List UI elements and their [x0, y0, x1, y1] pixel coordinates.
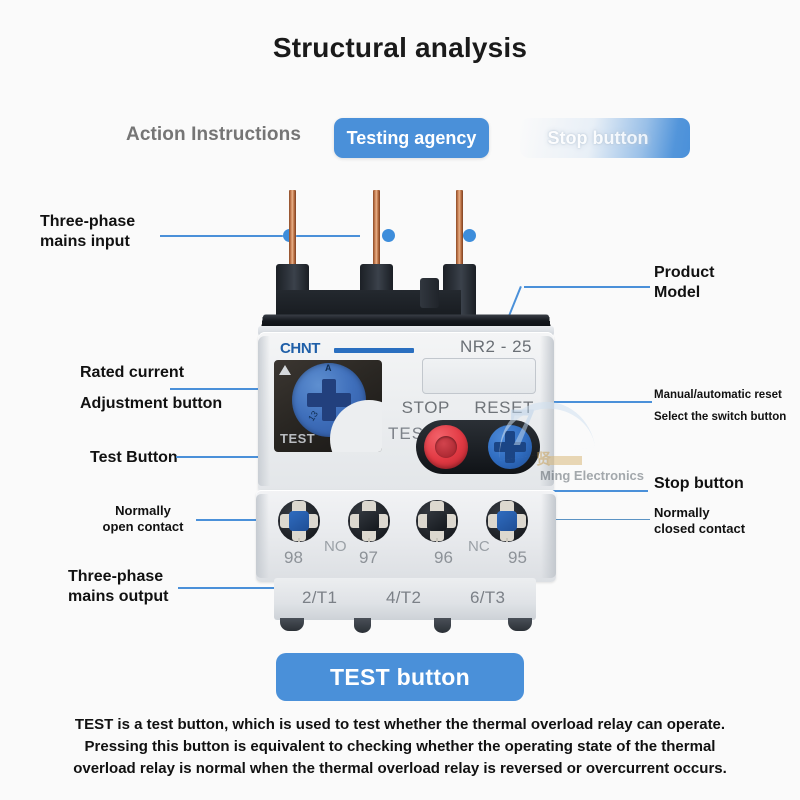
chip-stop-button[interactable]: Stop button: [520, 118, 690, 158]
copper-pin-l3: [456, 190, 463, 268]
rating-window: [422, 358, 536, 394]
dial-pointer-icon: [279, 365, 291, 375]
copper-pin-l1: [289, 190, 296, 268]
diagram-canvas: Structural analysis Action Instructions …: [0, 0, 800, 800]
chip-stop-button-label: Stop button: [548, 128, 649, 149]
label-normally-open-contact: Normally open contact: [88, 503, 198, 535]
base-terminal-2t1: 2/T1: [302, 588, 337, 608]
terminal-tag-no: NO: [324, 538, 347, 555]
dial-mark-high: 19: [346, 407, 360, 421]
terminal-screw-95[interactable]: [486, 500, 528, 542]
base-terminal-6t3: 6/T3: [470, 588, 505, 608]
header-chip-row: Action Instructions Testing agency Stop …: [0, 118, 800, 160]
watermark-cn-text: 贤: [536, 448, 551, 469]
label-select-switch-button: Select the switch button: [654, 410, 786, 424]
stop-label: STOP: [402, 398, 450, 418]
stop-button[interactable]: [424, 425, 468, 469]
dial-mark-low: 13: [306, 409, 320, 423]
terminal-number-95: 95: [508, 548, 527, 568]
dial-well-test-label: TEST: [280, 431, 315, 446]
chip-testing-agency[interactable]: Testing agency: [334, 118, 489, 158]
terminal-number-96: 96: [434, 548, 453, 568]
current-adjustment-dial[interactable]: A 19 13: [292, 363, 366, 437]
label-test-button: Test Button: [90, 448, 178, 468]
label-adjustment-button: Adjustment button: [80, 394, 222, 414]
label-three-phase-mains-input: Three-phase mains input: [40, 212, 135, 251]
page-title: Structural analysis: [0, 32, 800, 64]
caption-line-3: overload relay is normal when the therma…: [62, 758, 738, 780]
dial-recess: A 19 13 TEST: [274, 360, 382, 452]
label-manual-automatic-reset: Manual/automatic reset: [654, 388, 782, 402]
dial-cross-horizontal: [307, 393, 351, 407]
watermark-text: Ming Electronics: [540, 468, 644, 483]
boot-nub: [420, 278, 439, 308]
relay-foot-3: [434, 618, 451, 633]
caption-line-2: Pressing this button is equivalent to ch…: [62, 736, 738, 758]
terminal-number-98: 98: [284, 548, 303, 568]
brand-logo: CHNT: [280, 340, 320, 357]
terminal-screw-98[interactable]: [278, 500, 320, 542]
dial-unit-label: A: [325, 363, 332, 373]
footer-test-button-chip[interactable]: TEST button: [276, 653, 524, 701]
terminal-number-97: 97: [359, 548, 378, 568]
relay-foot-1: [280, 618, 304, 631]
watermark-glyph: 7: [508, 396, 535, 458]
terminal-screw-96[interactable]: [416, 500, 458, 542]
watermark: 7 贤 Ming Electronics: [496, 392, 616, 492]
relay-foot-2: [354, 618, 371, 633]
label-product-model: Product Model: [654, 263, 714, 302]
model-number: NR2 - 25: [460, 337, 532, 357]
label-rated-current: Rated current: [80, 363, 184, 383]
label-stop-button: Stop button: [654, 474, 744, 494]
watermark-bar: [548, 456, 582, 465]
relay-base: 2/T1 4/T2 6/T3: [274, 578, 536, 620]
base-terminal-4t2: 4/T2: [386, 588, 421, 608]
auxiliary-terminal-block: 98 97 96 95 NO NC: [256, 490, 556, 582]
footer-caption: TEST is a test button, which is used to …: [62, 714, 738, 779]
chip-action-instructions[interactable]: Action Instructions: [126, 124, 301, 146]
brand-underline: [334, 348, 414, 353]
terminal-screw-97[interactable]: [348, 500, 390, 542]
caption-line-1: TEST is a test button, which is used to …: [62, 714, 738, 736]
label-three-phase-mains-output: Three-phase mains output: [68, 567, 168, 606]
copper-pin-l2: [373, 190, 380, 268]
label-normally-closed-contact: Normally closed contact: [654, 505, 745, 537]
terminal-tag-nc: NC: [468, 538, 490, 555]
relay-foot-4: [508, 618, 532, 631]
